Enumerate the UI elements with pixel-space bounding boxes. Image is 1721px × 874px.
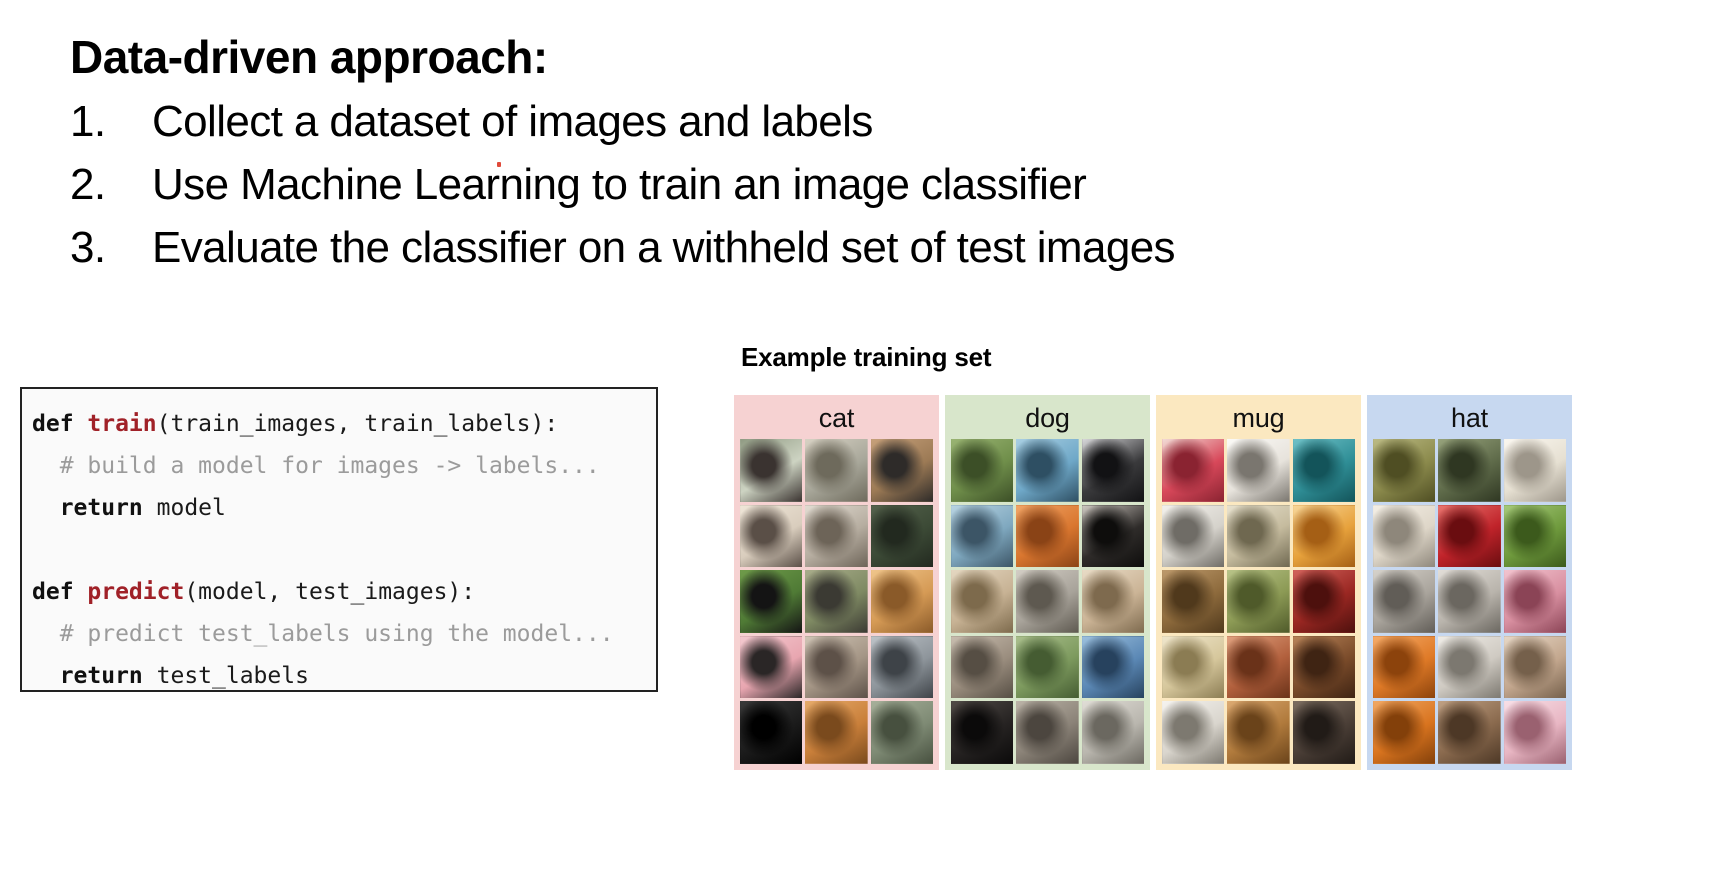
- thumbnail-brown-dog-walking-sand: [951, 570, 1013, 633]
- training-set-caption: Example training set: [741, 342, 991, 373]
- thumbnail-dog-on-boat-lake: [1016, 439, 1078, 502]
- thumbnail-grey-tabby-lying: [805, 505, 867, 568]
- category-label: hat: [1370, 399, 1569, 437]
- thumbnail-tabby-cat-by-fence: [805, 570, 867, 633]
- thumbnail-black-white-cat-on-wood: [871, 439, 933, 502]
- thumbnail-girl-in-white-hat: [1438, 636, 1500, 699]
- red-speck-artifact: [497, 162, 501, 167]
- thumbnail-hand-holding-brown-mug: [1162, 570, 1224, 633]
- thumbnail-calico-cat-face: [740, 505, 802, 568]
- thumbnail-black-cat-dark-room: [740, 701, 802, 764]
- category-label: cat: [737, 399, 936, 437]
- thumbnail-cream-knit-beanie: [1504, 439, 1566, 502]
- thumbnail-baby-in-knit-cap: [1504, 636, 1566, 699]
- thumbnail-dog-jumping-sky: [1082, 636, 1144, 699]
- thumbnail-black-dog-dark-fur: [951, 701, 1013, 764]
- thumbnail-cat-on-stone-ledge: [805, 636, 867, 699]
- thumbnail-tabby-kitten-with-toy: [805, 439, 867, 502]
- thumbnail-dark-mug-closeup: [1293, 701, 1355, 764]
- code-token-kw: return: [32, 495, 157, 521]
- thumbnail-white-mug-with-logo: [1162, 505, 1224, 568]
- thumbnail-black-white-dog-portrait: [1082, 505, 1144, 568]
- thumbnail-puppy-on-pavement: [1016, 570, 1078, 633]
- code-line: def train(train_images, train_labels):: [32, 403, 656, 445]
- code-line: # predict test_labels using the model...: [32, 613, 656, 655]
- code-token-plain: (train_images, train_labels):: [157, 411, 559, 437]
- code-token-plain: test_labels: [157, 663, 309, 689]
- category-panel-cat: cat: [734, 395, 939, 770]
- thumbnail-dark-green-cat-portrait: [871, 505, 933, 568]
- thumbnail-grey-striped-beanie: [1373, 570, 1435, 633]
- thumbnail-two-dogs-on-grass: [1016, 636, 1078, 699]
- thumbnail-dog-with-orange-float: [1016, 505, 1078, 568]
- thumbnail-husky-on-path: [1082, 701, 1144, 764]
- thumbnail-white-mug-with-text: [1227, 439, 1289, 502]
- step-text: Collect a dataset of images and labels: [152, 90, 873, 153]
- thumbnail-green-knit-hat-worn: [1504, 505, 1566, 568]
- thumbnail-person-wearing-green-hat: [1438, 439, 1500, 502]
- thumbnail-colorful-mugs-row: [1227, 636, 1289, 699]
- code-line: # build a model for images -> labels...: [32, 445, 656, 487]
- thumbnail-grey-cat-outdoors: [871, 701, 933, 764]
- thumbnail-mug-on-red-shelf: [1293, 570, 1355, 633]
- step-number: 3.: [70, 216, 152, 279]
- category-panel-mug: mug: [1156, 395, 1361, 770]
- thumbnail-grid: [1159, 437, 1358, 764]
- thumbnail-coffee-mug-on-table: [1293, 636, 1355, 699]
- step-text: Use Machine Learning to train an image c…: [152, 153, 1086, 216]
- code-token-kw: return: [32, 663, 157, 689]
- thumbnail-red-fedora-hat: [1438, 505, 1500, 568]
- thumbnail-stacked-strawberry-mugs: [1162, 439, 1224, 502]
- code-line: return test_labels: [32, 655, 656, 692]
- thumbnail-dog-resting-on-rug: [951, 636, 1013, 699]
- steps-list: 1.Collect a dataset of images and labels…: [70, 90, 1630, 279]
- thumbnail-copper-metal-mug: [1227, 701, 1289, 764]
- thumbnail-pink-bunny-hat: [1504, 701, 1566, 764]
- heading-block: Data-driven approach: 1.Collect a datase…: [70, 34, 1630, 279]
- thumbnail-olive-green-pitcher: [1227, 570, 1289, 633]
- training-set-grid: catdogmughat: [734, 395, 1572, 770]
- step-number: 2.: [70, 153, 152, 216]
- thumbnail-child-striped-orange-hat: [1373, 701, 1435, 764]
- step-item: 1.Collect a dataset of images and labels: [70, 90, 1630, 153]
- step-text: Evaluate the classifier on a withheld se…: [152, 216, 1175, 279]
- code-token-plain: (model, test_images):: [184, 579, 475, 605]
- thumbnail-dog-lying-by-water: [951, 505, 1013, 568]
- thumbnail-orange-pumpkin-hat: [1373, 636, 1435, 699]
- thumbnail-tuxedo-cat-on-porch: [740, 439, 802, 502]
- step-item: 2.Use Machine Learning to train an image…: [70, 153, 1630, 216]
- thumbnail-husky-face-closeup: [1082, 439, 1144, 502]
- code-token-com: # build a model for images -> labels...: [32, 453, 600, 479]
- thumbnail-black-cat-in-grass: [740, 570, 802, 633]
- thumbnail-white-mug-with-handle: [1162, 701, 1224, 764]
- category-label: mug: [1159, 399, 1358, 437]
- thumbnail-woman-in-winter-hat: [1438, 570, 1500, 633]
- code-token-com: # predict test_labels using the model...: [32, 621, 614, 647]
- thumbnail-olive-knit-hat: [1373, 439, 1435, 502]
- thumbnail-patterned-mug-candy: [1293, 505, 1355, 568]
- thumbnail-child-in-pink-hat: [1504, 570, 1566, 633]
- thumbnail-tan-puppy-sitting: [1082, 570, 1144, 633]
- code-lines: def train(train_images, train_labels): #…: [22, 389, 656, 692]
- category-label: dog: [948, 399, 1147, 437]
- thumbnail-ginger-kitten-closeup: [871, 570, 933, 633]
- code-token-fn: predict: [87, 579, 184, 605]
- category-panel-hat: hat: [1367, 395, 1572, 770]
- step-number: 1.: [70, 90, 152, 153]
- code-token-fn: train: [87, 411, 156, 437]
- code-line: def predict(model, test_images):: [32, 571, 656, 613]
- step-item: 3.Evaluate the classifier on a withheld …: [70, 216, 1630, 279]
- thumbnail-tall-beige-mug-text: [1162, 636, 1224, 699]
- thumbnail-cat-in-pink-basket: [740, 636, 802, 699]
- thumbnail-dog-in-yard-grass: [951, 439, 1013, 502]
- category-panel-dog: dog: [945, 395, 1150, 770]
- page-title: Data-driven approach:: [70, 34, 1630, 80]
- thumbnail-grid: [1370, 437, 1569, 764]
- code-block: def train(train_images, train_labels): #…: [20, 387, 658, 692]
- thumbnail-brown-striped-hat: [1438, 701, 1500, 764]
- thumbnail-dog-on-street: [1016, 701, 1078, 764]
- thumbnail-hat-on-hook: [1373, 505, 1435, 568]
- code-token-kw: def: [32, 579, 87, 605]
- thumbnail-grid: [737, 437, 936, 764]
- code-token-kw: def: [32, 411, 87, 437]
- thumbnail-cat-sleeping-on-sofa: [871, 636, 933, 699]
- code-line: return model: [32, 487, 656, 529]
- code-token-plain: model: [157, 495, 226, 521]
- thumbnail-orange-cat-on-carpet: [805, 701, 867, 764]
- thumbnail-glass-mug-green-tea: [1227, 505, 1289, 568]
- thumbnail-teal-mug-on-desk: [1293, 439, 1355, 502]
- code-line: [32, 529, 656, 571]
- thumbnail-grid: [948, 437, 1147, 764]
